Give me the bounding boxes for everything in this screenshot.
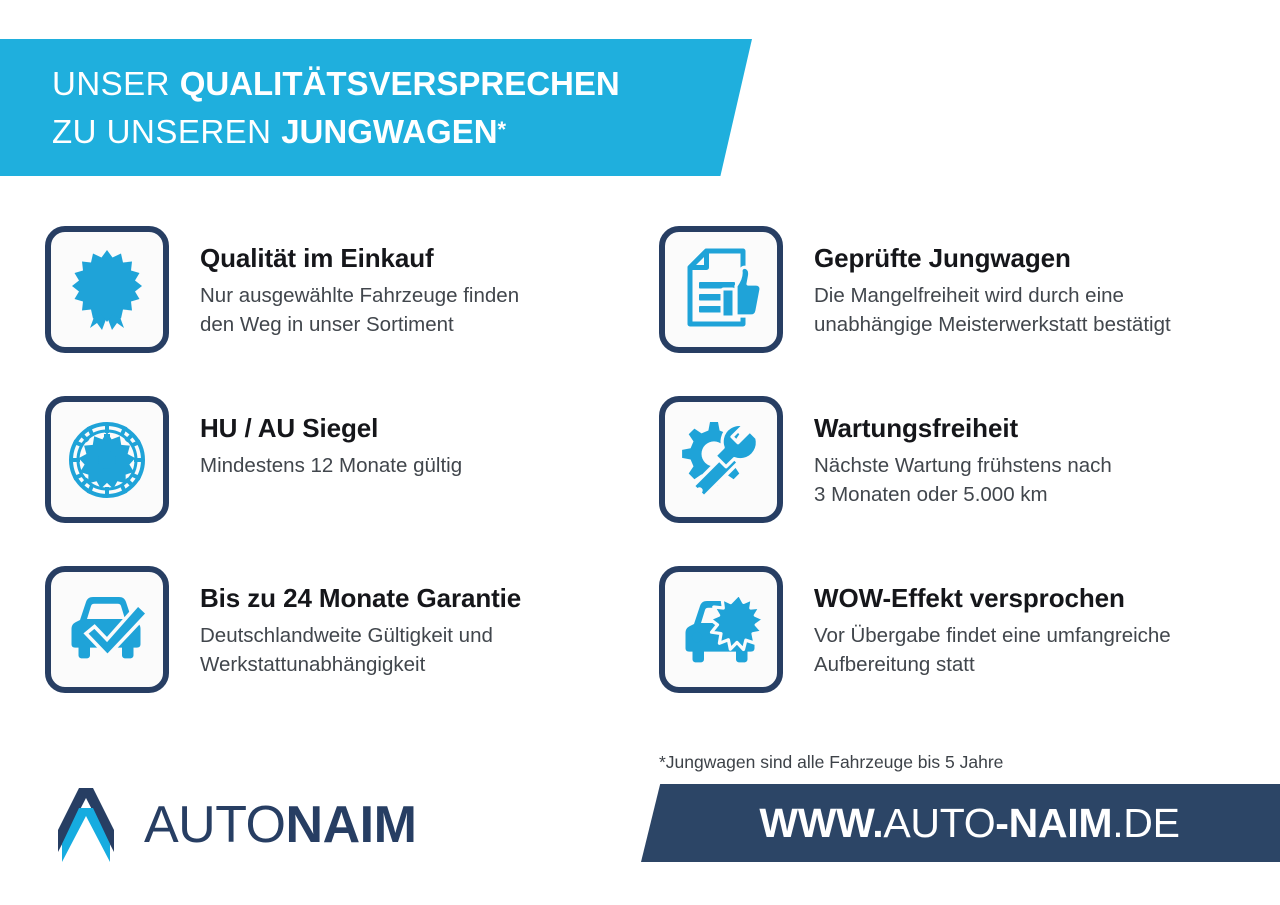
header-line-1-light: UNSER [52,65,180,102]
icon-box [45,396,169,523]
car-check-icon [64,594,150,666]
feature-text: HU / AU Siegel Mindestens 12 Monate gült… [169,396,462,480]
website-url-text: WWW.AUTO-NAIM.DE [641,784,1280,862]
header-banner: UNSER QUALITÄTSVERSPRECHEN ZU UNSEREN JU… [0,39,752,176]
feature-title: Geprüfte Jungwagen [814,242,1171,274]
icon-box [659,396,783,523]
icon-box [659,226,783,353]
feature-desc-line-1: Nur ausgewählte Fahrzeuge finden [200,281,519,310]
feature-text: Wartungsfreiheit Nächste Wartung frühste… [783,396,1112,509]
url-part-auto: AUTO [883,800,995,847]
brand-logo-text-auto: AUTO [144,796,286,854]
feature-item: Bis zu 24 Monate Garantie Deutschlandwei… [45,566,645,736]
feature-title: WOW-Effekt versprochen [814,582,1171,614]
footnote-asterisk: * [498,117,507,142]
document-thumbsup-icon [680,248,762,332]
feature-item: Geprüfte Jungwagen Die Mangelfreiheit wi… [659,226,1269,396]
feature-desc-line-2: den Weg in unser Sortiment [200,310,519,339]
feature-title: Bis zu 24 Monate Garantie [200,582,521,614]
feature-item: HU / AU Siegel Mindestens 12 Monate gült… [45,396,645,566]
header-line-2-light: ZU UNSEREN [52,113,281,150]
feature-column-right: Geprüfte Jungwagen Die Mangelfreiheit wi… [659,226,1269,736]
feature-desc-line-1: Deutschlandweite Gültigkeit und [200,621,521,650]
icon-box [45,566,169,693]
feature-desc-line-1: Die Mangelfreiheit wird durch eine [814,281,1171,310]
header-line-2-bold: JUNGWAGEN [281,113,497,150]
feature-desc-line-2: 3 Monaten oder 5.000 km [814,480,1112,509]
icon-box [659,566,783,693]
feature-text: Bis zu 24 Monate Garantie Deutschlandwei… [169,566,521,679]
chevron-logo-icon [46,786,120,864]
footnote-text: *Jungwagen sind alle Fahrzeuge bis 5 Jah… [659,752,1003,773]
feature-desc-line-1: Mindestens 12 Monate gültig [200,451,462,480]
brand-logo[interactable]: AUTONAIM [46,786,416,864]
header-banner-text: UNSER QUALITÄTSVERSPRECHEN ZU UNSEREN JU… [52,61,620,155]
feature-desc-line-1: Nächste Wartung frühstens nach [814,451,1112,480]
brand-logo-text: AUTONAIM [144,797,416,853]
url-part-naim: -NAIM [995,800,1112,847]
header-line-2: ZU UNSEREN JUNGWAGEN* [52,107,620,155]
header-line-1: UNSER QUALITÄTSVERSPRECHEN [52,61,620,107]
car-sparkle-icon [678,592,764,668]
feature-desc-line-2: Werkstattunabhängigkeit [200,650,521,679]
feature-item: Wartungsfreiheit Nächste Wartung frühste… [659,396,1269,566]
feature-title: HU / AU Siegel [200,412,462,444]
inspection-seal-icon [67,420,147,500]
feature-desc-line-2: unabhängige Meisterwerkstatt bestätigt [814,310,1171,339]
promo-banner-page: UNSER QUALITÄTSVERSPRECHEN ZU UNSEREN JU… [0,0,1280,905]
feature-desc-line-2: Aufbereitung statt [814,650,1171,679]
feature-text: Qualität im Einkauf Nur ausgewählte Fahr… [169,226,519,339]
feature-column-left: Qualität im Einkauf Nur ausgewählte Fahr… [45,226,645,736]
url-part-de: .DE [1112,800,1179,847]
feature-item: Qualität im Einkauf Nur ausgewählte Fahr… [45,226,645,396]
feature-title: Qualität im Einkauf [200,242,519,274]
website-url-bar[interactable]: WWW.AUTO-NAIM.DE [641,784,1280,862]
feature-title: Wartungsfreiheit [814,412,1112,444]
url-part-www: WWW. [759,800,883,847]
gear-wrench-icon [679,419,763,501]
feature-text: Geprüfte Jungwagen Die Mangelfreiheit wi… [783,226,1171,339]
header-line-1-bold: QUALITÄTSVERSPRECHEN [180,65,620,102]
feature-text: WOW-Effekt versprochen Vor Übergabe find… [783,566,1171,679]
brand-logo-text-naim: NAIM [286,796,417,854]
award-rosette-icon [70,248,144,332]
icon-box [45,226,169,353]
feature-item: WOW-Effekt versprochen Vor Übergabe find… [659,566,1269,736]
feature-desc-line-1: Vor Übergabe findet eine umfangreiche [814,621,1171,650]
